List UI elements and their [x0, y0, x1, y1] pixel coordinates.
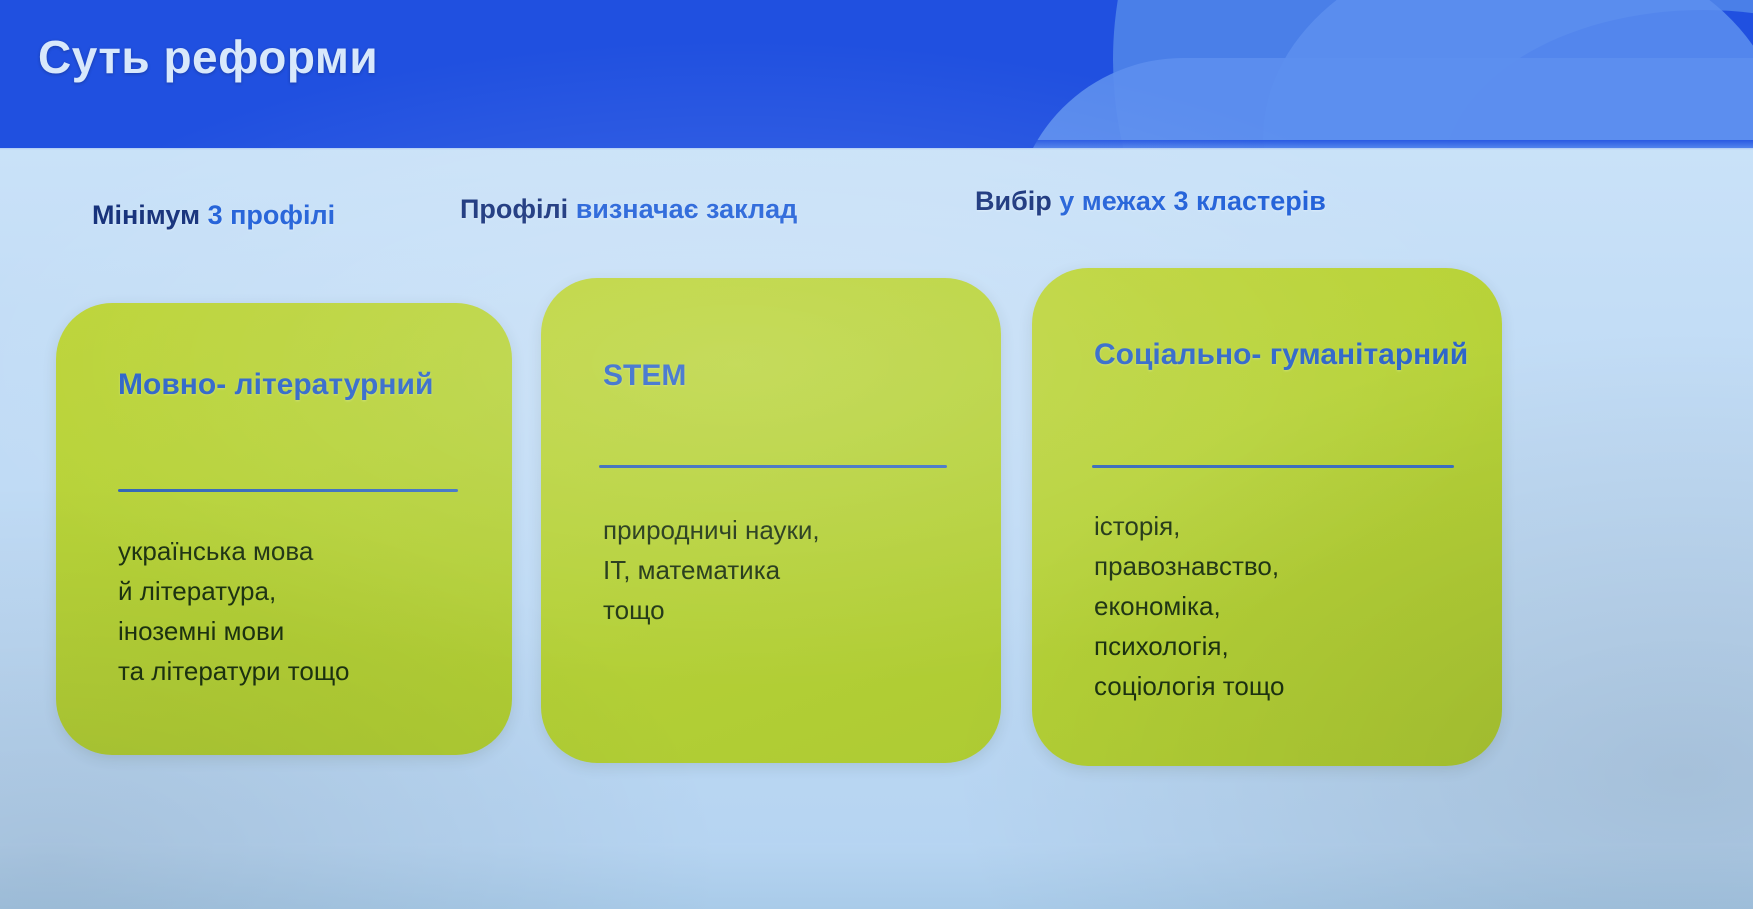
page-title: Суть реформи: [38, 30, 378, 84]
profile-card-title-line: Мовно-: [118, 368, 226, 401]
profile-card-body: українська мова й література, іноземні м…: [118, 531, 494, 691]
profile-card-body-line: історія,: [1094, 506, 1484, 546]
column-caption-3-plain: Вибір: [975, 186, 1059, 216]
profile-card-body-line: психологія,: [1094, 626, 1484, 666]
banner-bottom-edge: [0, 140, 1753, 150]
profile-card-divider: [1092, 465, 1454, 468]
profile-card-title-line: Соціально-: [1094, 338, 1261, 371]
profile-card-body-line: тощо: [603, 590, 983, 630]
profile-card-title-line: гуманітарний: [1270, 338, 1468, 371]
banner-wave-accent-icon: [1263, 0, 1753, 148]
profile-card-language-literature: Мовно- літературний українська мова й лі…: [56, 303, 512, 755]
column-caption-2: Профілі визначає заклад: [460, 194, 797, 225]
profile-card-body-line: економіка,: [1094, 586, 1484, 626]
profile-card-title: Мовно- літературний: [118, 365, 486, 405]
column-caption-1: Мінімум 3 профілі: [92, 200, 335, 231]
profile-card-body-line: IT, математика: [603, 550, 983, 590]
column-caption-1-highlight: 3 профілі: [208, 200, 336, 230]
profile-card-social-humanities: Соціально- гуманітарний історія, правозн…: [1032, 268, 1502, 766]
profile-card-body-line: українська мова: [118, 531, 494, 571]
profile-card-stem: STEM природничі науки, IT, математика то…: [541, 278, 1001, 763]
profile-card-body-line: природничі науки,: [603, 510, 983, 550]
column-caption-3: Вибір у межах 3 кластерів: [975, 186, 1326, 217]
profile-card-title-line: літературний: [235, 368, 434, 401]
profile-card-divider: [118, 489, 458, 492]
column-caption-3-highlight: у межах 3 кластерів: [1059, 186, 1326, 216]
profile-card-title-line: STEM: [603, 359, 686, 392]
profile-card-body-line: іноземні мови: [118, 611, 494, 651]
column-caption-1-plain: Мінімум: [92, 200, 208, 230]
column-caption-2-plain: Профілі: [460, 194, 576, 224]
profile-card-body-line: й література,: [118, 571, 494, 611]
profile-card-body-line: та літератури тощо: [118, 651, 494, 691]
profile-card-body-line: правознавство,: [1094, 546, 1484, 586]
profile-card-title: Соціально- гуманітарний: [1094, 335, 1476, 375]
profile-card-divider: [599, 465, 947, 468]
profile-card-body: історія, правознавство, економіка, психо…: [1094, 506, 1484, 706]
profile-card-title: STEM: [603, 356, 975, 396]
slide-bottom-edge: [0, 843, 1753, 909]
presentation-slide: Суть реформи Мінімум 3 профілі Профілі в…: [0, 0, 1753, 909]
profile-card-body: природничі науки, IT, математика тощо: [603, 510, 983, 630]
profile-card-body-line: соціологія тощо: [1094, 666, 1484, 706]
column-caption-2-highlight: визначає заклад: [576, 194, 798, 224]
